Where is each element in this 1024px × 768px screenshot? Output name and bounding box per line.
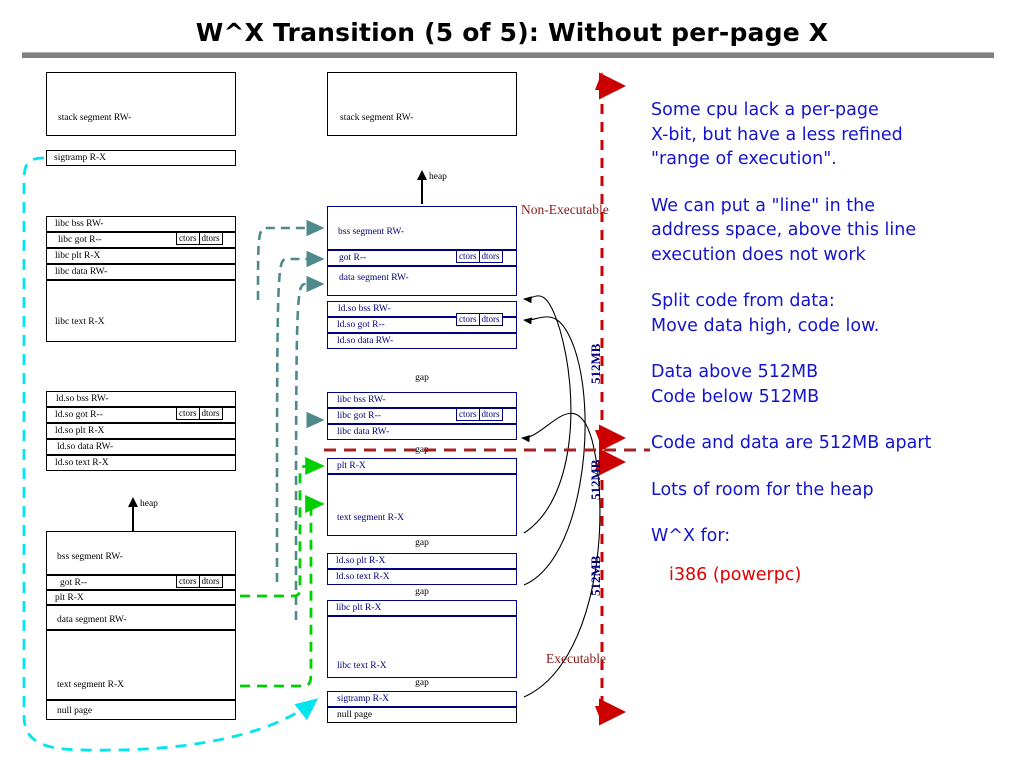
ctors-dtors-pair: ctors dtors bbox=[177, 575, 223, 588]
ctors-cell: ctors bbox=[456, 250, 480, 263]
dtors-cell: dtors bbox=[199, 575, 223, 588]
arrow-shaft bbox=[132, 505, 134, 531]
segment-label: ld.so plt R-X bbox=[55, 426, 104, 436]
range-arrow-heads bbox=[595, 72, 609, 724]
segment-label: libc bss RW- bbox=[337, 395, 386, 405]
gap-label: gap bbox=[327, 678, 517, 688]
note-paragraph-4: Data above 512MB Code below 512MB bbox=[651, 360, 1023, 409]
ctors-dtors-pair: ctors dtors bbox=[177, 407, 223, 420]
segment-label: plt R-X bbox=[55, 593, 84, 603]
heap-label: heap bbox=[140, 499, 158, 509]
green-connector-group bbox=[240, 466, 322, 686]
note-line: execution does not work bbox=[651, 245, 866, 265]
non-executable-label: Non-Executable bbox=[521, 202, 609, 218]
note-line: address space, above this line bbox=[651, 220, 916, 240]
gap-label: gap bbox=[327, 445, 517, 455]
segment-label: sigtramp R-X bbox=[54, 153, 106, 163]
executable-label: Executable bbox=[546, 651, 606, 667]
note-paragraph-1: Some cpu lack a per-page X-bit, but have… bbox=[651, 98, 1023, 172]
note-line: W^X for: bbox=[651, 526, 730, 546]
dtors-cell: dtors bbox=[199, 407, 223, 420]
cpu-list: i386 (powerpc) bbox=[669, 565, 801, 585]
ctors-cell: ctors bbox=[176, 407, 200, 420]
segment-box-text[interactable] bbox=[327, 474, 517, 536]
page-title: W^X Transition (5 of 5): Without per-pag… bbox=[0, 18, 1024, 47]
dtors-cell: dtors bbox=[479, 408, 503, 421]
segment-label: null page bbox=[57, 706, 92, 716]
note-line: We can put a "line" in the bbox=[651, 196, 875, 216]
segment-label: ld.so bss RW- bbox=[338, 304, 391, 314]
segment-label: libc got R-- bbox=[337, 411, 381, 421]
segment-box-libc-text[interactable] bbox=[46, 280, 236, 342]
note-line: Lots of room for the heap bbox=[651, 480, 874, 500]
segment-label: ld.so got R-- bbox=[337, 320, 385, 330]
ctors-cell: ctors bbox=[176, 575, 200, 588]
segment-label: ld.so plt R-X bbox=[336, 556, 385, 566]
ctors-dtors-pair: ctors dtors bbox=[457, 313, 503, 326]
dtors-cell: dtors bbox=[199, 232, 223, 245]
segment-label: libc got R-- bbox=[58, 235, 102, 245]
ctors-cell: ctors bbox=[456, 408, 480, 421]
segment-label: bss segment RW- bbox=[57, 552, 123, 562]
segment-label: ld.so got R-- bbox=[55, 410, 103, 420]
segment-label: got R-- bbox=[339, 253, 366, 263]
dtors-cell: dtors bbox=[479, 250, 503, 263]
segment-label: data segment RW- bbox=[57, 615, 127, 625]
slide-canvas: W^X Transition (5 of 5): Without per-pag… bbox=[0, 0, 1024, 768]
note-line: "range of execution". bbox=[651, 149, 837, 169]
segment-label: libc text R-X bbox=[337, 661, 387, 671]
segment-box-stack[interactable] bbox=[46, 72, 236, 136]
segment-label: sigtramp R-X bbox=[337, 694, 389, 704]
note-paragraph-3: Split code from data: Move data high, co… bbox=[651, 289, 1023, 338]
note-paragraph-cpus: i386 (powerpc) bbox=[651, 563, 1023, 588]
size-label-512mb: 512MB bbox=[588, 556, 604, 596]
note-paragraph-5: Code and data are 512MB apart bbox=[651, 431, 1023, 456]
segment-label: ld.so text R-X bbox=[336, 572, 390, 582]
segment-label: text segment R-X bbox=[57, 680, 124, 690]
segment-label: libc bss RW- bbox=[55, 219, 104, 229]
note-line: Split code from data: bbox=[651, 291, 835, 311]
segment-label: text segment R-X bbox=[337, 513, 404, 523]
ctors-dtors-pair: ctors dtors bbox=[177, 232, 223, 245]
ctors-cell: ctors bbox=[176, 232, 200, 245]
note-line: Code and data are 512MB apart bbox=[651, 433, 931, 453]
note-line: Code below 512MB bbox=[651, 387, 819, 407]
notes-panel: Some cpu lack a per-page X-bit, but have… bbox=[651, 98, 1023, 587]
segment-label: ld.so data RW- bbox=[57, 442, 113, 452]
segment-label: ld.so text R-X bbox=[55, 458, 109, 468]
segment-label: ld.so bss RW- bbox=[56, 394, 109, 404]
teal-connector-group bbox=[240, 228, 322, 620]
note-line: X-bit, but have a less refined bbox=[651, 125, 903, 145]
gap-label: gap bbox=[327, 587, 517, 597]
segment-label: libc data RW- bbox=[55, 267, 107, 277]
note-paragraph-2: We can put a "line" in the address space… bbox=[651, 194, 1023, 268]
ctors-cell: ctors bbox=[456, 313, 480, 326]
note-line: Move data high, code low. bbox=[651, 316, 879, 336]
note-line: Data above 512MB bbox=[651, 362, 818, 382]
segment-label: libc data RW- bbox=[337, 427, 389, 437]
ctors-dtors-pair: ctors dtors bbox=[457, 250, 503, 263]
segment-label: libc text R-X bbox=[55, 317, 105, 327]
gap-label: gap bbox=[327, 373, 517, 383]
segment-label: got R-- bbox=[60, 578, 87, 588]
segment-label: data segment RW- bbox=[339, 273, 409, 283]
note-paragraph-6: Lots of room for the heap bbox=[651, 478, 1023, 503]
heap-label: heap bbox=[429, 172, 447, 182]
ctors-dtors-pair: ctors dtors bbox=[457, 408, 503, 421]
segment-label: stack segment RW- bbox=[340, 113, 413, 123]
gap-label: gap bbox=[327, 538, 517, 548]
note-paragraph-7: W^X for: bbox=[651, 524, 1023, 549]
segment-box-stack[interactable] bbox=[327, 72, 517, 136]
segment-label: libc plt R-X bbox=[55, 251, 100, 261]
dtors-cell: dtors bbox=[479, 313, 503, 326]
size-label-512mb: 512MB bbox=[588, 344, 604, 384]
note-line: Some cpu lack a per-page bbox=[651, 100, 879, 120]
segment-label: ld.so data RW- bbox=[337, 336, 393, 346]
size-label-512mb: 512MB bbox=[588, 460, 604, 500]
arrow-shaft bbox=[421, 178, 423, 204]
segment-label: libc plt R-X bbox=[336, 603, 381, 613]
segment-label: bss segment RW- bbox=[338, 227, 404, 237]
segment-label: plt R-X bbox=[337, 461, 366, 471]
segment-label: stack segment RW- bbox=[58, 113, 131, 123]
segment-label: null page bbox=[337, 710, 372, 720]
title-divider bbox=[22, 52, 994, 58]
